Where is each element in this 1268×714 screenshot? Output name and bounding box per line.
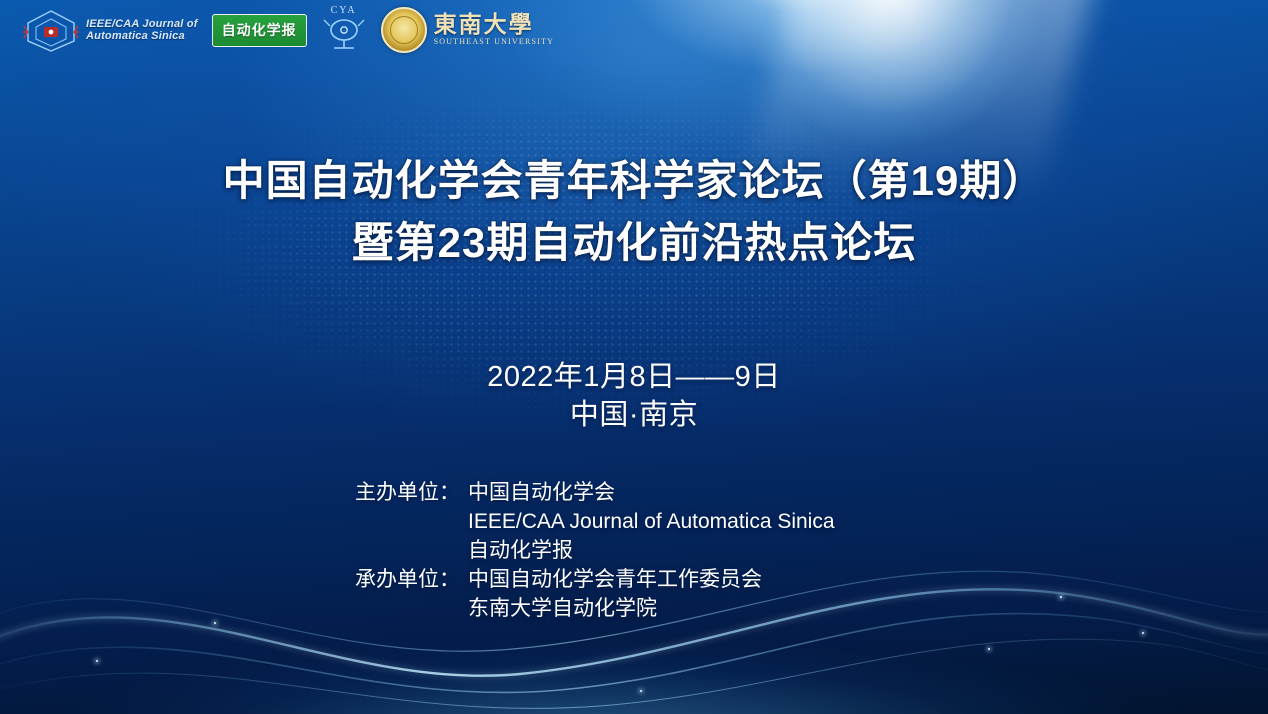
organizers-block: 主办单位： 中国自动化学会 IEEE/CAA Journal of Automa…	[355, 478, 835, 623]
sparkle-icon	[640, 690, 642, 692]
title-line-2: 暨第23期自动化前沿热点论坛	[0, 212, 1268, 274]
seu-crest-icon	[381, 7, 427, 53]
sparkle-icon	[988, 648, 990, 650]
presentation-slide: IEEE/CAA Journal of Automatica Sinica 自动…	[0, 0, 1268, 714]
event-date: 2022年1月8日——9日	[0, 358, 1268, 396]
jas-line-2: Automatica Sinica	[86, 30, 198, 43]
hexagon-network-icon	[22, 8, 80, 52]
logo-cya: CYA	[321, 5, 367, 55]
sparkle-icon	[96, 660, 98, 662]
undertaker-row: 承办单位： 中国自动化学会青年工作委员会 东南大学自动化学院	[355, 565, 835, 623]
host-row: 主办单位： 中国自动化学会 IEEE/CAA Journal of Automa…	[355, 478, 835, 565]
cya-label: CYA	[321, 5, 367, 16]
event-details: 2022年1月8日——9日 中国·南京	[0, 358, 1268, 434]
sparkle-icon	[214, 622, 216, 624]
jas-wordmark: IEEE/CAA Journal of Automatica Sinica	[86, 18, 198, 43]
undertaker-item: 东南大学自动化学院	[468, 594, 762, 623]
undertaker-item: 中国自动化学会青年工作委员会	[468, 565, 762, 594]
host-label: 主办单位：	[355, 478, 460, 507]
logo-southeast-university: 東南大學 SOUTHEAST UNIVERSITY	[381, 7, 555, 53]
seu-name-en: SOUTHEAST UNIVERSITY	[434, 38, 555, 46]
cya-emblem-icon	[321, 16, 367, 50]
host-item: IEEE/CAA Journal of Automatica Sinica	[468, 507, 835, 536]
undertaker-values: 中国自动化学会青年工作委员会 东南大学自动化学院	[468, 565, 762, 623]
title-line-1: 中国自动化学会青年科学家论坛（第19期）	[0, 150, 1268, 212]
sparkle-icon	[1060, 596, 1062, 598]
host-item: 自动化学报	[468, 536, 835, 565]
host-values: 中国自动化学会 IEEE/CAA Journal of Automatica S…	[468, 478, 835, 565]
undertaker-label: 承办单位：	[355, 565, 460, 594]
event-location: 中国·南京	[0, 396, 1268, 434]
jas-line-1: IEEE/CAA Journal of	[86, 18, 198, 31]
sparkle-icon	[1142, 632, 1144, 634]
seu-name-cn: 東南大學	[434, 13, 555, 37]
logo-journal-badge: 自动化学报	[212, 14, 307, 47]
host-item: 中国自动化学会	[468, 478, 835, 507]
seu-wordmark: 東南大學 SOUTHEAST UNIVERSITY	[434, 13, 555, 47]
logo-bar: IEEE/CAA Journal of Automatica Sinica 自动…	[0, 0, 1268, 60]
slide-title: 中国自动化学会青年科学家论坛（第19期） 暨第23期自动化前沿热点论坛	[0, 150, 1268, 274]
logo-ieee-caa-jas: IEEE/CAA Journal of Automatica Sinica	[22, 8, 198, 52]
